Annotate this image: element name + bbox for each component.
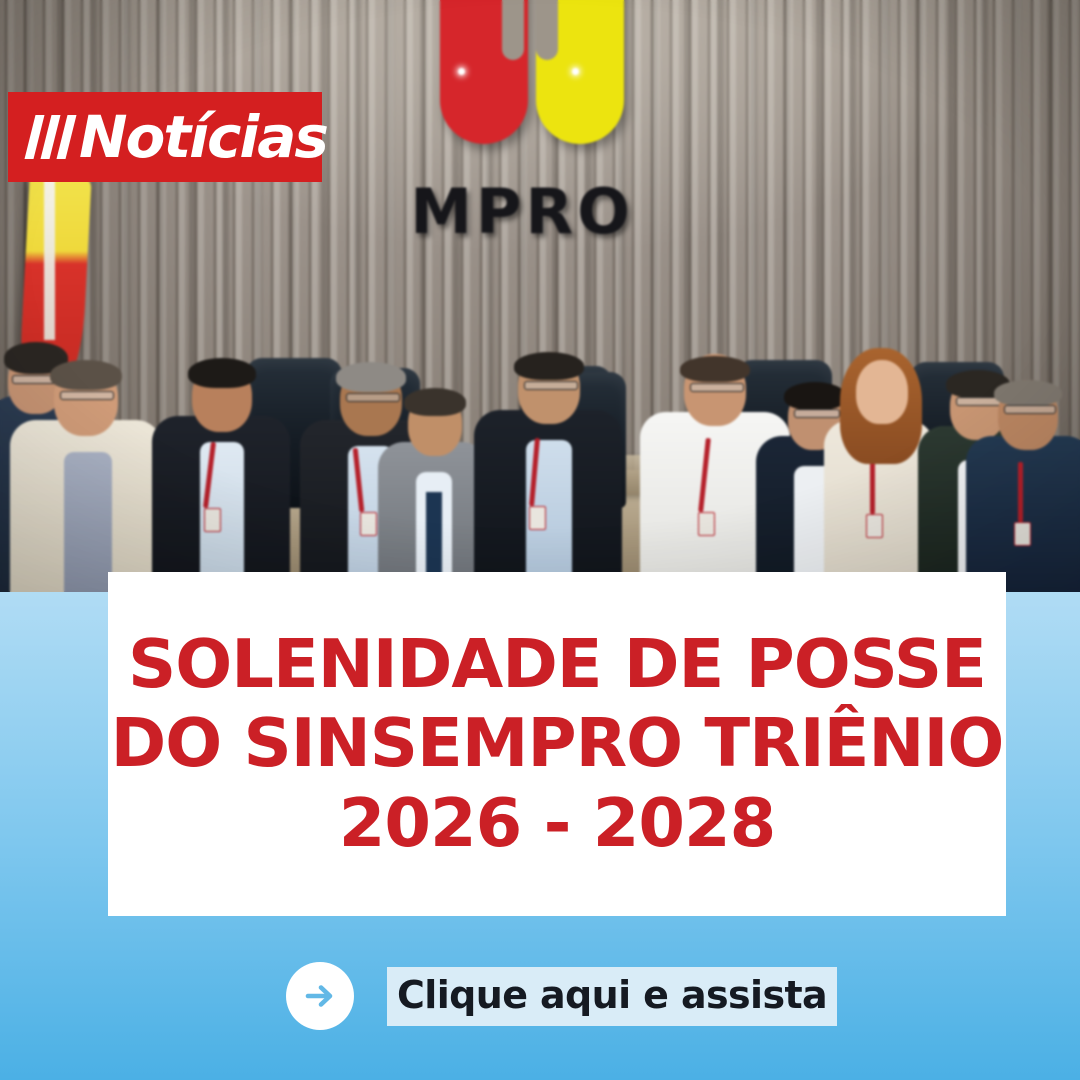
person-6 [474,352,622,592]
person-11-glasses [1004,405,1056,414]
person-11-lanyard [1018,462,1023,522]
social-media-post: MPRO [0,0,1080,1080]
person-2-glasses [60,391,114,400]
person-2 [10,362,162,592]
mpro-shield-icon [440,0,640,164]
three-slash-bars-icon [30,115,71,159]
person-3-hair [188,358,256,388]
mpro-logo-highlight-left [458,68,465,75]
person-3 [152,357,290,592]
mpro-logo-red-notch [502,0,524,60]
person-5-hair [404,388,466,416]
mpro-wordmark: MPRO [382,175,662,248]
title-line-2: DO SINSEMPRO TRIÊNIO [111,704,1004,783]
person-9-head [856,360,908,424]
person-11-hair [994,380,1062,406]
person-11-body [966,436,1080,592]
call-to-action[interactable]: Clique aqui e assista [286,962,837,1030]
noticias-badge-label: Notícias [79,108,327,166]
title-line-3: 2026 - 2028 [339,784,775,863]
person-5 [378,387,488,592]
cta-label[interactable]: Clique aqui e assista [387,967,837,1026]
person-7-badge [698,512,715,536]
person-2-hair [50,360,122,390]
person-6-glasses [524,381,578,390]
person-6-badge [529,506,546,530]
arrow-right-circle-icon[interactable] [286,962,354,1030]
noticias-badge: Notícias [8,92,322,182]
person-11-badge [1014,522,1031,546]
person-9-badge [866,514,883,538]
person-2-shirt [64,452,112,592]
person-7-hair [680,356,750,382]
title-card: SOLENIDADE DE POSSE DO SINSEMPRO TRIÊNIO… [108,572,1006,916]
mpro-logo-yellow-notch [536,0,558,60]
person-7-glasses [690,383,744,392]
person-3-badge [204,508,221,532]
event-photo: MPRO [0,0,1080,592]
title-line-1: SOLENIDADE DE POSSE [128,625,986,704]
person-6-hair [514,352,584,380]
flag-white-stripe [44,170,55,340]
mpro-logo-highlight-right [572,68,579,75]
person-4-badge [360,512,377,536]
person-11 [966,380,1080,592]
